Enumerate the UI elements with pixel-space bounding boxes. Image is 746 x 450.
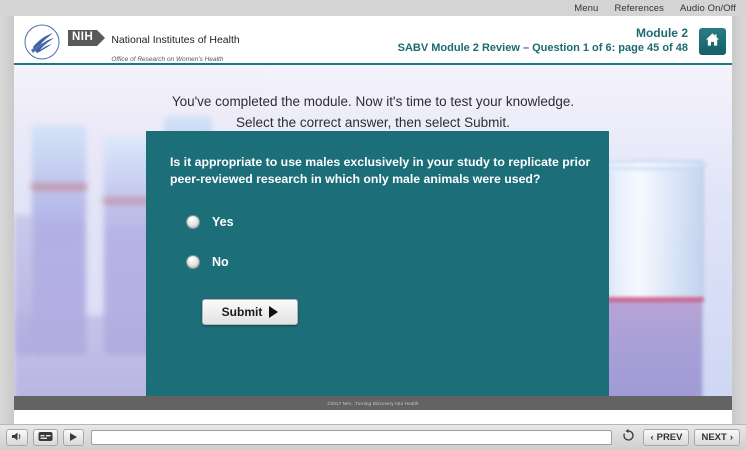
replay-icon xyxy=(622,429,635,447)
module-title: Module 2 xyxy=(398,26,688,41)
home-icon xyxy=(705,32,720,52)
answer-options: Yes No xyxy=(186,211,234,291)
volume-icon xyxy=(11,429,23,447)
submit-button[interactable]: Submit xyxy=(202,299,298,325)
option-yes[interactable]: Yes xyxy=(186,211,234,233)
nih-logo: NIH National Institutes of Health Office… xyxy=(68,30,240,66)
volume-button[interactable] xyxy=(6,429,28,446)
play-triangle-icon xyxy=(269,306,278,318)
slide-header: NIH National Institutes of Health Office… xyxy=(14,16,732,65)
beaker-image xyxy=(596,160,704,410)
home-button[interactable] xyxy=(699,28,726,55)
agency-office: Office of Research on Women's Health xyxy=(111,56,223,63)
menu-item-menu[interactable]: Menu xyxy=(574,3,598,14)
copyright-text: ©2017 NIH...Turning Discovery Into Healt… xyxy=(327,400,418,406)
progress-bar[interactable] xyxy=(91,430,612,445)
stage-right-edge xyxy=(732,16,746,424)
next-arrow-icon: › xyxy=(730,432,733,443)
player-control-bar: ‹ PREV NEXT › xyxy=(0,424,746,450)
module-heading: Module 2 SABV Module 2 Review – Question… xyxy=(398,26,688,56)
captions-button[interactable] xyxy=(33,429,58,446)
prev-button-label: PREV xyxy=(657,432,683,443)
option-label-no: No xyxy=(212,255,229,269)
slide-stage: NIH National Institutes of Health Office… xyxy=(14,16,732,424)
replay-button[interactable] xyxy=(619,429,638,446)
prev-arrow-icon: ‹ xyxy=(650,432,653,443)
hhs-eagle-logo-icon xyxy=(20,22,64,62)
module-subtitle: SABV Module 2 Review – Question 1 of 6: … xyxy=(398,41,688,56)
radio-button-no[interactable] xyxy=(186,255,200,269)
next-button-label: NEXT xyxy=(701,432,726,443)
question-text: Is it appropriate to use males exclusive… xyxy=(170,154,594,188)
play-button[interactable] xyxy=(63,429,84,446)
menu-item-references[interactable]: References xyxy=(614,3,664,14)
intro-text: You've completed the module. Now it's ti… xyxy=(14,91,732,133)
next-button[interactable]: NEXT › xyxy=(694,429,740,446)
submit-button-label: Submit xyxy=(222,305,263,319)
stage-left-edge xyxy=(0,16,14,424)
option-label-yes: Yes xyxy=(212,215,234,229)
agency-name: National Institutes of Health xyxy=(111,34,239,46)
question-panel: Is it appropriate to use males exclusive… xyxy=(146,131,609,410)
course-player: Menu References Audio On/Off NIH Nationa… xyxy=(0,0,746,450)
slide-body: You've completed the module. Now it's ti… xyxy=(14,65,732,410)
menu-item-audio-toggle[interactable]: Audio On/Off xyxy=(680,3,736,14)
intro-line-2: Select the correct answer, then select S… xyxy=(14,112,732,133)
option-no[interactable]: No xyxy=(186,251,234,273)
intro-line-1: You've completed the module. Now it's ti… xyxy=(14,91,732,112)
radio-button-yes[interactable] xyxy=(186,215,200,229)
play-icon xyxy=(69,429,78,447)
prev-button[interactable]: ‹ PREV xyxy=(643,429,689,446)
nih-badge-label: NIH xyxy=(68,30,97,46)
slide-footer: ©2017 NIH...Turning Discovery Into Healt… xyxy=(14,396,732,410)
top-menu-bar: Menu References Audio On/Off xyxy=(0,0,746,16)
closed-caption-icon xyxy=(38,429,53,447)
